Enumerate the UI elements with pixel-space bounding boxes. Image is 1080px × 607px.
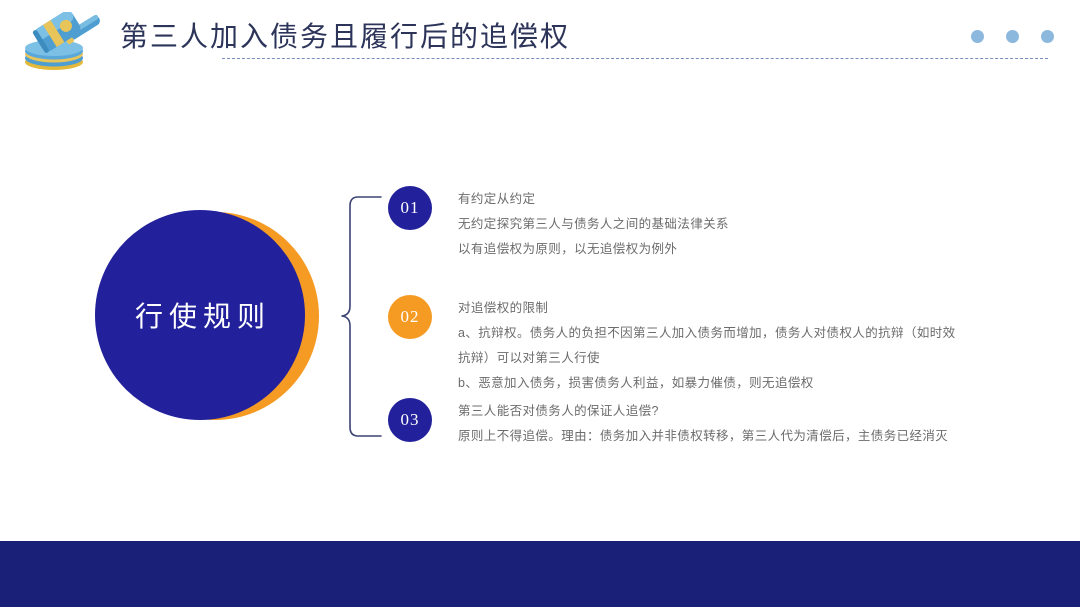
item-badge: 01 xyxy=(388,186,432,230)
item-line: a、抗辩权。债务人的负担不因第三人加入债务而增加，债务人对债权人的抗辩（如时效 xyxy=(458,321,956,346)
item-line: b、恶意加入债务，损害债务人利益，如暴力催债，则无追偿权 xyxy=(458,371,956,396)
item-line: 有约定从约定 xyxy=(458,187,729,212)
list-item[interactable]: 03 第三人能否对债务人的保证人追偿? 原则上不得追偿。理由：债务加入并非债权转… xyxy=(388,398,948,449)
title-underline xyxy=(222,58,1048,59)
header-dot-3 xyxy=(1041,30,1054,43)
hub-core: 行使规则 xyxy=(95,210,305,420)
item-line: 抗辩）可以对第三人行使 xyxy=(458,346,956,371)
item-line: 第三人能否对债务人的保证人追偿? xyxy=(458,399,948,424)
page-title: 第三人加入债务且履行后的追偿权 xyxy=(120,15,570,55)
gavel-icon xyxy=(18,12,110,74)
header-dots xyxy=(971,30,1054,43)
slide-canvas: 第三人加入债务且履行后的追偿权 行使规则 01 有约定从约定 xyxy=(0,0,1080,607)
item-text-block: 对追偿权的限制 a、抗辩权。债务人的负担不因第三人加入债务而增加，债务人对债权人… xyxy=(458,295,956,396)
item-line: 原则上不得追偿。理由：债务加入并非债权转移，第三人代为清偿后，主债务已经消灭 xyxy=(458,424,948,449)
hub-circle: 行使规则 xyxy=(95,210,323,422)
item-line: 对追偿权的限制 xyxy=(458,296,956,321)
header-dot-2 xyxy=(1006,30,1019,43)
slide-header: 第三人加入债务且履行后的追偿权 xyxy=(0,0,1080,80)
hub-label: 行使规则 xyxy=(129,295,271,335)
item-text-block: 有约定从约定 无约定探究第三人与债务人之间的基础法律关系 以有追偿权为原则，以无… xyxy=(458,186,729,262)
item-line: 以有追偿权为原则，以无追偿权为例外 xyxy=(458,237,729,262)
list-item[interactable]: 01 有约定从约定 无约定探究第三人与债务人之间的基础法律关系 以有追偿权为原则… xyxy=(388,186,729,262)
item-badge: 02 xyxy=(388,295,432,339)
header-dot-1 xyxy=(971,30,984,43)
item-text-block: 第三人能否对债务人的保证人追偿? 原则上不得追偿。理由：债务加入并非债权转移，第… xyxy=(458,398,948,449)
footer-bar xyxy=(0,541,1080,607)
item-badge: 03 xyxy=(388,398,432,442)
item-line: 无约定探究第三人与债务人之间的基础法律关系 xyxy=(458,212,729,237)
slide-content: 行使规则 01 有约定从约定 无约定探究第三人与债务人之间的基础法律关系 以有追… xyxy=(0,80,1080,541)
brace-connector xyxy=(340,195,382,438)
list-item[interactable]: 02 对追偿权的限制 a、抗辩权。债务人的负担不因第三人加入债务而增加，债务人对… xyxy=(388,295,956,396)
